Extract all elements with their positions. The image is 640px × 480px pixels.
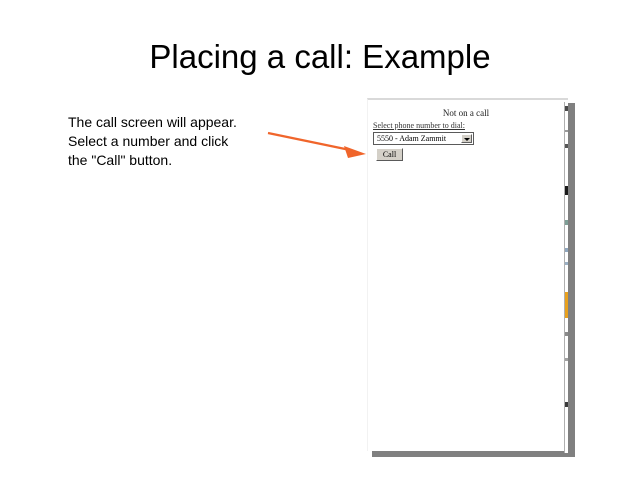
scrollbar-thumb[interactable] [565,292,568,318]
screenshot-shadow-right [568,103,575,457]
phone-number-select-value: 5550 - Adam Zammit [377,134,446,143]
phone-number-select[interactable]: 5550 - Adam Zammit [373,132,474,145]
arrow-shaft [268,133,350,150]
phone-select-label: Select phone number to dial: [373,121,465,130]
annotation-arrow-container [258,122,373,162]
chevron-down-icon[interactable] [461,134,472,143]
scrollbar-mark [565,106,568,111]
pointer-arrow-icon [258,122,373,162]
scrollbar-mark [565,248,568,252]
scrollbar-mark [565,332,568,336]
screenshot-shadow-bottom [372,450,575,457]
embedded-app-screenshot: Not on a call Select phone number to dia… [367,98,572,453]
app-window-canvas: Not on a call Select phone number to dia… [367,98,568,451]
scrollbar-mark [565,402,568,407]
scrollbar-mark [565,220,568,225]
scrollbar-mark [565,358,568,361]
scrollbar-mark [565,144,568,148]
call-status-text: Not on a call [368,108,564,118]
call-button[interactable]: Call [376,148,403,161]
scrollbar-mark [565,186,568,195]
scrollbar-mark [565,262,568,265]
scrollbar-mark [565,130,568,132]
page-title: Placing a call: Example [0,38,640,76]
arrow-head [344,146,366,158]
vertical-scrollbar[interactable] [564,102,568,453]
